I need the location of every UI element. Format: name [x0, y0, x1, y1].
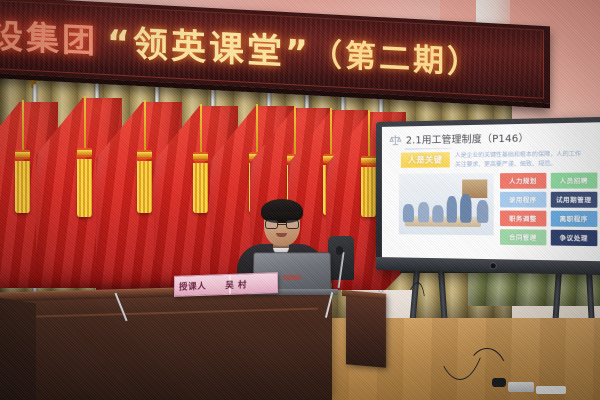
scales-icon	[389, 133, 402, 146]
tassel-cord	[22, 100, 24, 152]
nameplate-name: 吴 村	[225, 278, 247, 291]
tassel-body	[15, 161, 30, 213]
tassel-head	[137, 150, 152, 159]
banner-text-suffix: （第二期）	[311, 28, 481, 82]
tassel-cord	[84, 96, 86, 150]
power-adapter	[508, 382, 534, 392]
process-box[interactable]: 职务调整	[500, 211, 546, 227]
process-box[interactable]: 合同管理	[500, 230, 546, 246]
process-box[interactable]: 争议处理	[550, 230, 597, 246]
podium-left-side	[0, 297, 36, 400]
process-box[interactable]: 离职程序	[550, 211, 597, 227]
highlight-badge: 人是关键	[401, 152, 450, 168]
tassel-head	[77, 148, 92, 157]
process-box[interactable]: 试用期管理	[550, 192, 597, 208]
presenter-mouth	[276, 233, 287, 237]
paper-on-floor	[536, 386, 566, 394]
tassel-cord	[368, 110, 370, 158]
slide-title: 2.1用工管理制度（P146）	[406, 130, 529, 146]
presentation-display[interactable]: 2.1用工管理制度（P146） 人是关键 人是企业的关键性基础和根本的保障，人的…	[376, 117, 600, 276]
tassel-head	[15, 150, 30, 159]
podium-panel	[32, 308, 318, 400]
side-cabinet	[346, 290, 386, 367]
tassel-cord	[256, 104, 258, 154]
process-box[interactable]: 录用程序	[500, 192, 546, 208]
microphone-head	[336, 246, 343, 255]
display-indicator-icon	[490, 263, 495, 268]
tassel-cord	[294, 106, 296, 156]
slide-description: 人是企业的关键性基础和根本的保障，人的工作关注要求、更高要严谨、细致、规范。	[455, 150, 584, 169]
slide-body: 人力规划 人员招聘 录用程序 试用期管理 职务调整 离职程序 合同管理 争议处理	[399, 173, 598, 247]
photo-scene: 设集团 “领英课堂” （第二期）	[0, 0, 600, 400]
process-box[interactable]: 人员招聘	[550, 173, 597, 189]
nameplate: 授课人 吴 村	[174, 272, 278, 297]
title-underline	[405, 148, 452, 150]
tassel-body	[361, 167, 376, 217]
tassel-cord	[144, 100, 146, 152]
cable-connector	[492, 378, 506, 387]
banner-text-main: “领英课堂”	[107, 14, 311, 76]
glasses-icon	[265, 220, 299, 229]
slide-title-row: 2.1用工管理制度（P146）	[389, 129, 598, 147]
tassel-body	[193, 163, 208, 213]
tassel-head	[193, 152, 208, 161]
wooden-podium	[0, 283, 332, 400]
process-box[interactable]: 人力规划	[500, 173, 546, 189]
tassel-body	[137, 161, 152, 213]
event-banner: 设集团 “领英课堂” （第二期）	[0, 0, 550, 78]
laptop-logo	[283, 275, 301, 280]
banner-text-cut: 设集团	[0, 9, 98, 63]
nameplate-role: 授课人	[179, 279, 206, 292]
slide-highlight-row: 人是关键 人是企业的关键性基础和根本的保障，人的工作关注要求、更高要严谨、细致、…	[401, 150, 598, 170]
process-box-grid: 人力规划 人员招聘 录用程序 试用期管理 职务调整 离职程序 合同管理 争议处理	[500, 173, 597, 247]
slide-content: 2.1用工管理制度（P146） 人是关键 人是企业的关键性基础和根本的保障，人的…	[382, 122, 600, 261]
tassel-head	[361, 156, 376, 165]
team-meeting-photo	[399, 174, 494, 236]
tassel-cord	[200, 104, 202, 154]
tassel-cord	[330, 108, 332, 156]
display-screen: 2.1用工管理制度（P146） 人是关键 人是企业的关键性基础和根本的保障，人的…	[382, 122, 600, 261]
tassel-body	[77, 159, 92, 217]
